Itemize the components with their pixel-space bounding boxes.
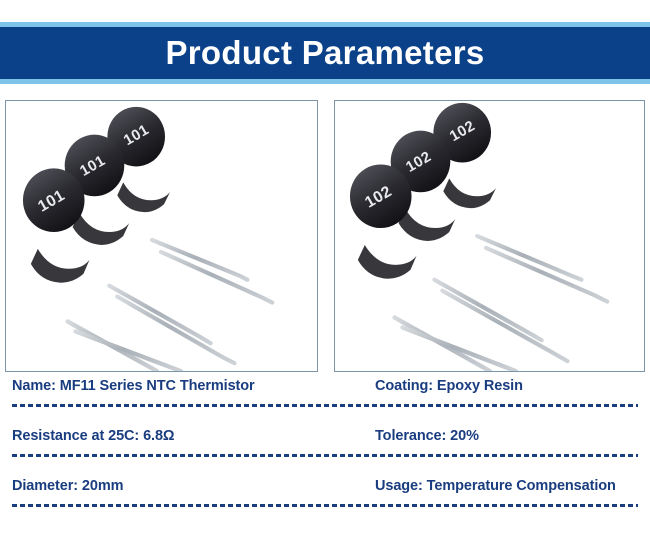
- parameter-row: Name: MF11 Series NTC Thermistor Coating…: [0, 378, 650, 428]
- product-image-gallery: 101 101 101: [5, 100, 645, 372]
- product-photo-panel-right[interactable]: 102 102 102: [334, 100, 645, 372]
- ntc-thermistor-101-photo: 101 101 101: [6, 101, 317, 371]
- parameter-divider: [12, 404, 638, 407]
- product-parameters-list: Name: MF11 Series NTC Thermistor Coating…: [0, 378, 650, 528]
- parameter-divider: [12, 504, 638, 507]
- parameter-divider: [12, 454, 638, 457]
- parameter-diameter: Diameter: 20mm: [12, 478, 123, 494]
- parameter-name: Name: MF11 Series NTC Thermistor: [12, 378, 255, 394]
- parameter-row: Resistance at 25C: 6.8Ω Tolerance: 20%: [0, 428, 650, 478]
- page-title: Product Parameters: [165, 34, 484, 72]
- parameter-row: Diameter: 20mm Usage: Temperature Compen…: [0, 478, 650, 528]
- page-header-banner: Product Parameters: [0, 22, 650, 84]
- product-photo-panel-left[interactable]: 101 101 101: [5, 100, 318, 372]
- parameter-coating: Coating: Epoxy Resin: [375, 378, 523, 394]
- parameter-resistance: Resistance at 25C: 6.8Ω: [12, 428, 174, 444]
- parameter-tolerance: Tolerance: 20%: [375, 428, 479, 444]
- ntc-thermistor-102-photo: 102 102 102: [335, 101, 644, 371]
- parameter-usage: Usage: Temperature Compensation: [375, 478, 616, 494]
- page-header-bar: Product Parameters: [0, 27, 650, 79]
